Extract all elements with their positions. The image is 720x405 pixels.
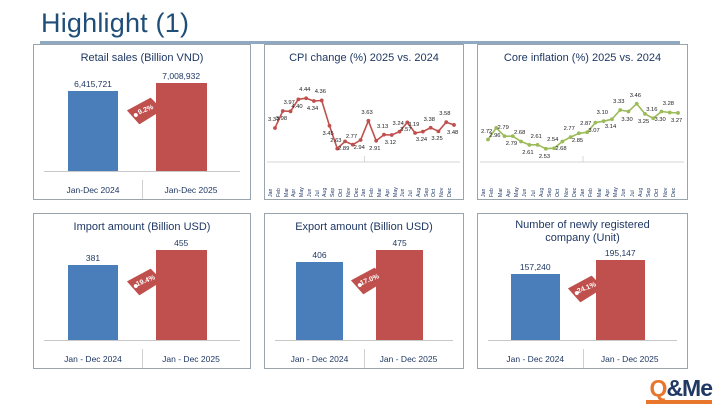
data-point — [503, 134, 507, 138]
bar-value-2025: 7,008,932 — [162, 71, 200, 81]
data-label: 3.48 — [447, 130, 458, 136]
data-point — [602, 119, 606, 123]
panel-title-retail-sales: Retail sales (Billion VND) — [34, 45, 250, 65]
month-tick-label: May — [299, 187, 305, 197]
month-tick-label: Nov — [439, 188, 445, 197]
page-title: Highlight (1) — [41, 8, 189, 39]
data-label: 3.24 — [416, 137, 427, 143]
panel-title-export-amount: Export amount (Billion USD) — [265, 214, 463, 234]
bar-2024[interactable] — [296, 262, 342, 340]
x-axis-line — [488, 340, 677, 341]
month-tick-label: Dec — [447, 188, 453, 197]
month-tick-label: Mar — [377, 188, 383, 197]
data-label: 3.25 — [431, 136, 442, 142]
data-label: 2.54 — [547, 137, 558, 143]
data-label: 4.34 — [307, 106, 318, 112]
data-label: 3.07 — [588, 128, 599, 134]
data-label: 3.46 — [630, 93, 641, 99]
data-label: 3.12 — [385, 140, 396, 146]
panel-title-line-2: company (Unit) — [478, 232, 687, 245]
data-point — [374, 139, 378, 143]
category-labels: Jan - Dec 2024 Jan - Dec 2025 — [488, 354, 677, 364]
data-label: 3.98 — [276, 116, 287, 122]
bar-value-2024: 381 — [86, 253, 100, 263]
growth-badge-label: 19.4% — [135, 274, 156, 288]
data-point — [668, 111, 672, 115]
logo-me-letters: &Me — [666, 378, 712, 399]
data-point — [382, 133, 386, 137]
chart-cpi-change: 3.373.983.974.404.444.344.363.452.632.89… — [265, 65, 463, 199]
month-tick-label: Nov — [663, 188, 669, 197]
month-tick-label: Jun — [307, 189, 313, 197]
month-tick-label: Oct — [338, 189, 344, 197]
data-label: 3.10 — [597, 110, 608, 116]
bar-2024[interactable] — [68, 265, 119, 340]
data-label: 3.24 — [393, 121, 404, 127]
panel-title-core-inflation: Core inflation (%) 2025 vs. 2024 — [478, 45, 687, 65]
data-label: 2.91 — [369, 146, 380, 152]
data-label: 3.57 — [400, 127, 411, 133]
data-point — [429, 126, 433, 130]
category-label-2025: Jan-Dec 2025 — [142, 185, 240, 195]
bar-group-2024: 406 — [296, 238, 342, 340]
chart-core-inflation: 2.722.962.792.792.682.612.612.532.542.68… — [478, 65, 687, 199]
data-label: 2.61 — [522, 150, 533, 156]
panel-export-amount[interactable]: Export amount (Billion USD) 406 475 17.0… — [264, 213, 464, 369]
month-tick-label: Sep — [646, 188, 652, 197]
month-tick-label: Oct — [555, 189, 561, 197]
data-point — [610, 117, 614, 121]
month-tick-label: Aug — [539, 188, 545, 197]
bar-value-2024: 6,415,721 — [74, 79, 112, 89]
month-tick-label: Jul — [630, 190, 636, 197]
category-labels: Jan - Dec 2024 Jan - Dec 2025 — [44, 354, 240, 364]
data-label: 2.85 — [572, 138, 583, 144]
bar-value-2024: 406 — [312, 250, 326, 260]
data-point — [527, 143, 531, 147]
month-tick-label: Apr — [605, 189, 611, 197]
chart-import-amount: 381 455 19.4% Jan - Dec 2024 Jan - Dec 2… — [34, 236, 250, 368]
data-label: 2.96 — [489, 133, 500, 139]
core-month-axis: JanFebMarAprMayJunJulAugSepOctNovDecJanF… — [478, 161, 687, 197]
data-label: 2.68 — [555, 146, 566, 152]
data-label: 4.44 — [299, 87, 310, 93]
month-tick-label: Oct — [431, 189, 437, 197]
month-tick-label: Sep — [547, 188, 553, 197]
panel-title-import-amount: Import amount (Billion USD) — [34, 214, 250, 234]
data-point — [343, 139, 347, 143]
bar-2025[interactable] — [156, 83, 207, 171]
panel-retail-sales[interactable]: Retail sales (Billion VND) 6,415,721 7,0… — [33, 44, 251, 200]
month-tick-label: Apr — [385, 189, 391, 197]
month-tick-label: May — [514, 187, 520, 197]
data-label: 3.45 — [322, 131, 333, 137]
month-tick-label: Nov — [564, 188, 570, 197]
month-tick-label: May — [613, 187, 619, 197]
data-point — [544, 147, 548, 151]
data-point — [676, 111, 680, 115]
data-point — [296, 97, 300, 101]
month-tick-label: Dec — [572, 188, 578, 197]
month-tick-label: Dec — [354, 188, 360, 197]
cpi-month-axis: JanFebMarAprMayJunJulAugSepOctNovDecJanF… — [265, 161, 463, 197]
data-label: 2.89 — [338, 146, 349, 152]
data-point — [390, 133, 394, 137]
data-label: 3.30 — [654, 117, 665, 123]
category-label-2024: Jan - Dec 2024 — [44, 354, 142, 364]
month-tick-label: Sep — [330, 188, 336, 197]
month-tick-label: Nov — [346, 188, 352, 197]
data-point — [437, 129, 441, 133]
data-label: 2.77 — [564, 126, 575, 132]
qme-logo: Q &Me — [650, 378, 712, 399]
panel-title-cpi-change: CPI change (%) 2025 vs. 2024 — [265, 45, 463, 65]
data-point — [312, 99, 316, 103]
panel-import-amount[interactable]: Import amount (Billion USD) 381 455 19.4… — [33, 213, 251, 369]
data-label: 2.79 — [498, 125, 509, 131]
logo-q-letter: Q — [650, 378, 667, 399]
x-axis-line — [275, 340, 453, 341]
chart-retail-sales: 6,415,721 7,008,932 9.2% Jan-Dec 2024 Ja… — [34, 67, 250, 199]
bar-group-2025: 475 — [376, 238, 422, 340]
growth-badge-label: 9.2% — [137, 104, 154, 116]
data-point — [536, 143, 540, 147]
data-label: 2.61 — [531, 134, 542, 140]
data-label: 4.40 — [291, 104, 302, 110]
data-label: 2.63 — [330, 138, 341, 144]
category-label-2025: Jan - Dec 2025 — [583, 354, 678, 364]
bar-group-2025: 455 — [156, 238, 207, 340]
data-point — [593, 121, 597, 125]
month-tick-label: Apr — [291, 189, 297, 197]
panel-newly-registered-company[interactable]: Number of newly registered company (Unit… — [477, 213, 688, 369]
month-tick-label: Jul — [531, 190, 537, 197]
data-label: 2.53 — [539, 154, 550, 160]
bar-group-2024: 381 — [68, 238, 119, 340]
month-tick-label: Feb — [588, 188, 594, 197]
data-point — [328, 124, 332, 128]
month-tick-label: Jun — [522, 189, 528, 197]
month-tick-label: Apr — [506, 189, 512, 197]
category-label-2024: Jan-Dec 2024 — [44, 185, 142, 195]
data-point — [304, 96, 308, 100]
month-tick-label: Jan — [268, 189, 274, 197]
bar-2025[interactable] — [376, 250, 422, 340]
data-point — [359, 138, 363, 142]
data-point — [618, 108, 622, 112]
data-point — [635, 102, 639, 106]
month-tick-label: Jan — [361, 189, 367, 197]
data-point — [452, 123, 456, 127]
data-point — [577, 131, 581, 135]
category-label-2025: Jan - Dec 2025 — [142, 354, 240, 364]
data-label: 3.19 — [408, 122, 419, 128]
data-label: 2.79 — [506, 141, 517, 147]
data-label: 2.94 — [354, 145, 365, 151]
category-label-2025: Jan - Dec 2025 — [364, 354, 453, 364]
data-point — [421, 130, 425, 134]
data-label: 2.77 — [346, 134, 357, 140]
category-label-2024: Jan - Dec 2024 — [488, 354, 583, 364]
bar-value-2025: 475 — [392, 238, 406, 248]
data-label: 3.14 — [605, 124, 616, 130]
bar-2025[interactable] — [156, 250, 207, 340]
month-tick-label: Jun — [400, 189, 406, 197]
data-point — [273, 126, 277, 130]
bar-value-2025: 195,147 — [605, 248, 636, 258]
data-point — [444, 120, 448, 124]
month-tick-label: Mar — [597, 188, 603, 197]
x-axis-line — [44, 340, 240, 341]
x-axis-line — [44, 171, 240, 172]
month-tick-label: Jul — [408, 190, 414, 197]
data-point — [366, 119, 370, 123]
core-line-svg — [478, 65, 686, 165]
data-label: 3.33 — [613, 99, 624, 105]
panel-grid: Retail sales (Billion VND) 6,415,721 7,0… — [33, 44, 688, 369]
data-label: 3.16 — [646, 107, 657, 113]
data-label: 3.27 — [671, 118, 682, 124]
bar-group-2024: 157,240 — [511, 248, 560, 340]
bar-value-2024: 157,240 — [520, 262, 551, 272]
month-tick-label: Mar — [284, 188, 290, 197]
data-label: 3.28 — [663, 101, 674, 107]
bar-2024[interactable] — [68, 91, 119, 171]
panel-core-inflation[interactable]: Core inflation (%) 2025 vs. 2024 2.722.9… — [477, 44, 688, 200]
data-label: 3.63 — [361, 110, 372, 116]
data-point — [413, 131, 417, 135]
data-point — [281, 109, 285, 113]
data-label: 4.36 — [315, 89, 326, 95]
month-tick-label: Jan — [481, 189, 487, 197]
month-tick-label: Feb — [489, 188, 495, 197]
category-labels: Jan - Dec 2024 Jan - Dec 2025 — [275, 354, 453, 364]
data-label: 3.38 — [424, 117, 435, 123]
bar-group-2024: 6,415,721 — [68, 69, 119, 171]
month-tick-label: Feb — [276, 188, 282, 197]
growth-badge-label: 24.1% — [576, 282, 597, 296]
month-tick-label: Sep — [424, 188, 430, 197]
month-tick-label: Aug — [416, 188, 422, 197]
data-label: 3.30 — [621, 117, 632, 123]
bar-2024[interactable] — [511, 274, 560, 340]
logo-underline — [646, 400, 712, 404]
growth-badge-label: 17.0% — [358, 273, 379, 287]
month-tick-label: Mar — [498, 188, 504, 197]
data-point — [519, 140, 523, 144]
data-label: 2.87 — [580, 121, 591, 127]
month-tick-label: Jan — [580, 189, 586, 197]
month-tick-label: Aug — [322, 188, 328, 197]
category-label-2024: Jan - Dec 2024 — [275, 354, 364, 364]
month-tick-label: May — [393, 187, 399, 197]
data-label: 2.68 — [514, 130, 525, 136]
month-tick-label: Oct — [654, 189, 660, 197]
panel-title-newly-registered-company: Number of newly registered company (Unit… — [478, 214, 687, 245]
data-label: 3.13 — [377, 124, 388, 130]
data-point — [320, 99, 324, 103]
data-point — [627, 110, 631, 114]
data-point — [560, 140, 564, 144]
panel-title-line-1: Number of newly registered — [478, 219, 687, 232]
data-label: 3.58 — [439, 111, 450, 117]
month-tick-label: Feb — [369, 188, 375, 197]
bar-group-2025: 7,008,932 — [156, 69, 207, 171]
slide: Highlight (1) Retail sales (Billion VND)… — [0, 0, 720, 405]
data-label: 3.25 — [638, 119, 649, 125]
panel-cpi-change[interactable]: CPI change (%) 2025 vs. 2024 3.373.983.9… — [264, 44, 464, 200]
category-labels: Jan-Dec 2024 Jan-Dec 2025 — [44, 185, 240, 195]
data-point — [660, 110, 664, 114]
bar-value-2025: 455 — [174, 238, 188, 248]
month-tick-label: Aug — [638, 188, 644, 197]
month-tick-label: Dec — [671, 188, 677, 197]
bar-2025[interactable] — [596, 260, 645, 340]
chart-newly-registered-company: 157,240 195,147 24.1% Jan - Dec 2024 Jan… — [478, 246, 687, 368]
bar-group-2025: 195,147 — [596, 248, 645, 340]
chart-export-amount: 406 475 17.0% Jan - Dec 2024 Jan - Dec 2… — [265, 236, 463, 368]
month-tick-label: Jun — [621, 189, 627, 197]
month-tick-label: Jul — [315, 190, 321, 197]
